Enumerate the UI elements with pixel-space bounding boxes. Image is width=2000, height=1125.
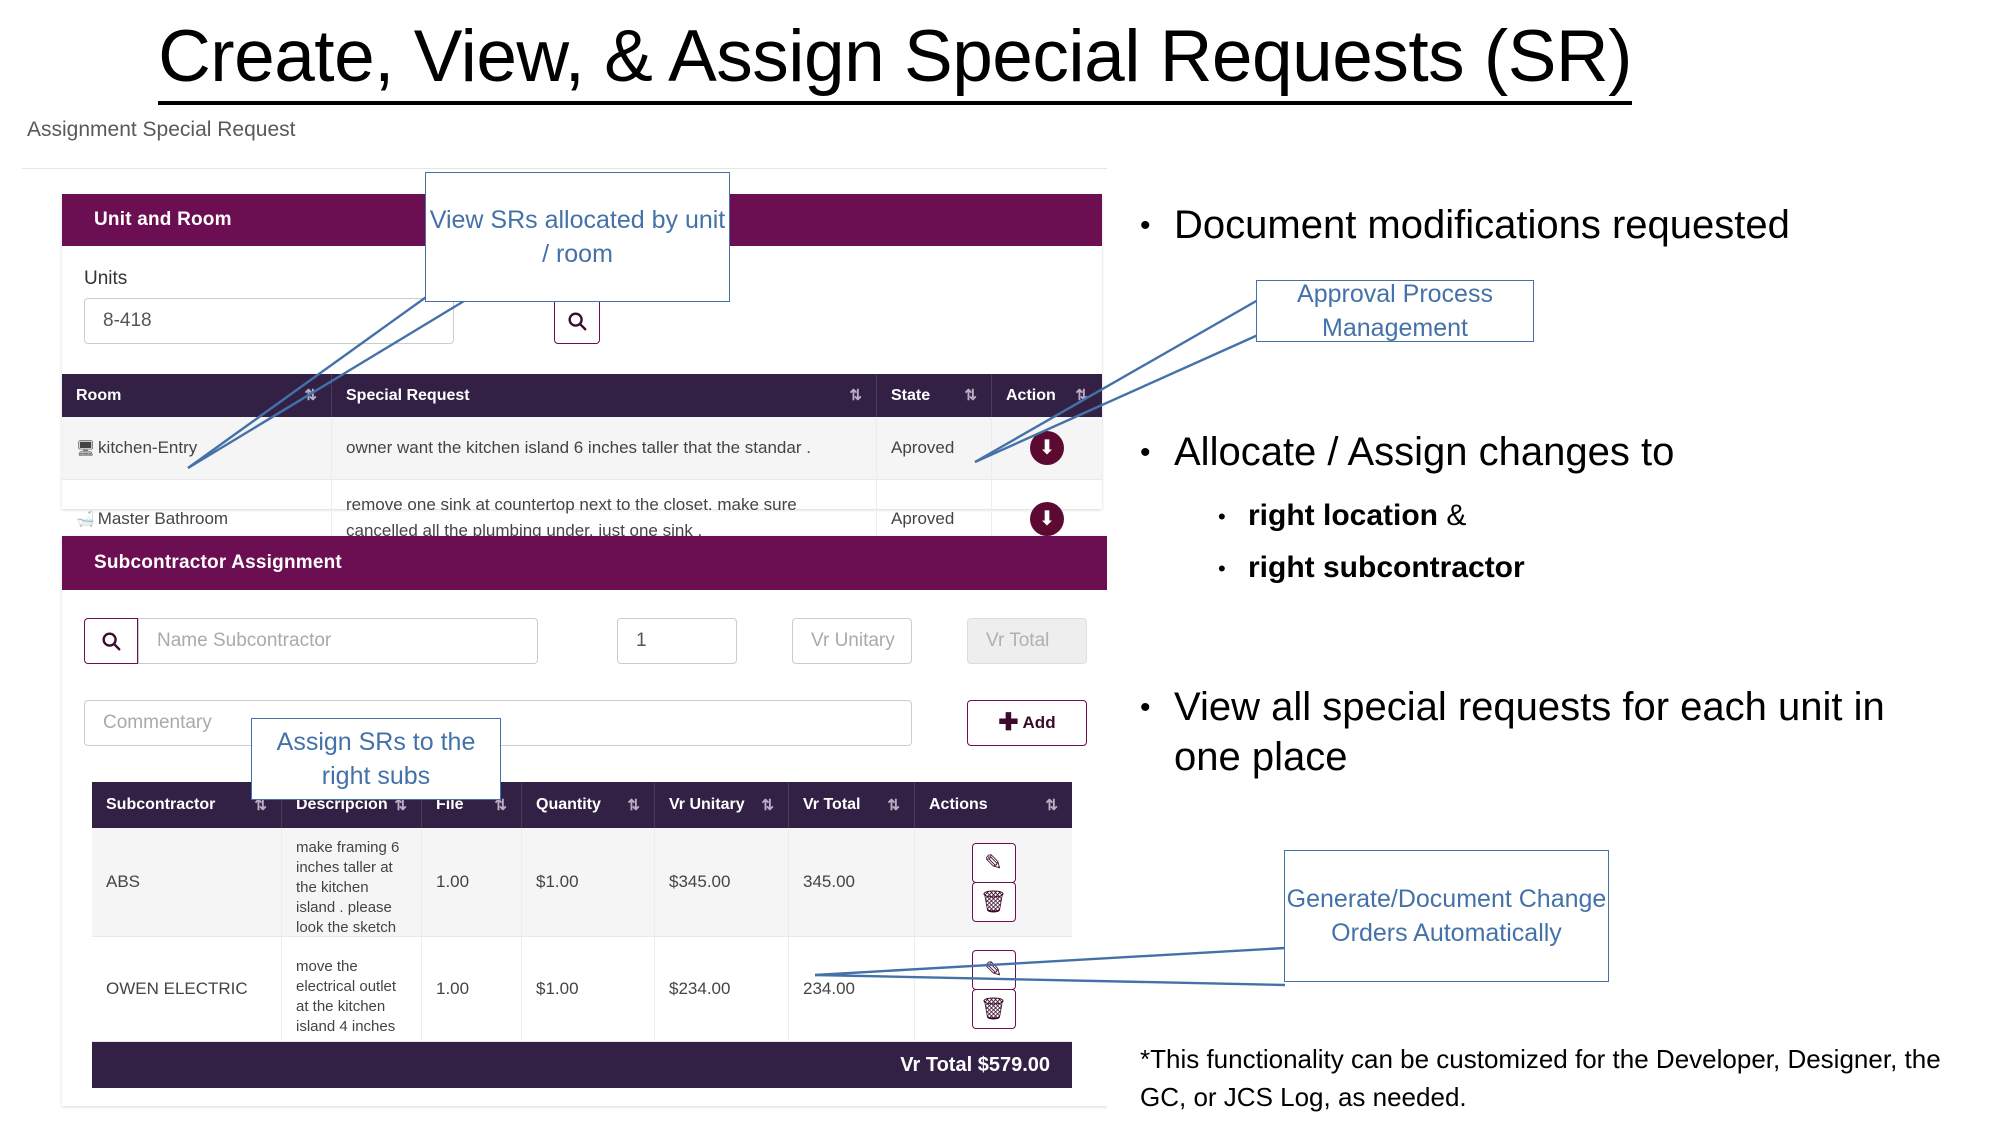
th-room[interactable]: Room ⇅: [62, 374, 332, 417]
edit-button[interactable]: ✎: [972, 950, 1016, 990]
subcontractor-assignment-card: Subcontractor Assignment Name Subcontrac…: [62, 536, 1107, 1106]
sort-updown-icon[interactable]: ⇅: [627, 798, 640, 813]
trash-icon: 🗑: [980, 889, 1008, 915]
subbullet-right-subcontractor: • right subcontractor: [1218, 547, 1978, 591]
cell-file: 1.00: [422, 828, 522, 936]
footnote: *This functionality can be customized fo…: [1140, 1040, 1985, 1116]
bullet-dot-icon: •: [1140, 200, 1174, 252]
cell-room-label: kitchen-Entry: [98, 438, 197, 458]
table-row[interactable]: 🖥 kitchen-Entry owner want the kitchen i…: [62, 417, 1102, 480]
callout-view-srs-text: View SRs allocated by unit / room: [426, 203, 729, 271]
rooms-table-header: Room ⇅ Special Request ⇅ State ⇅ Action …: [62, 374, 1102, 417]
sort-updown-icon[interactable]: ⇅: [849, 388, 862, 403]
cell-vr-unitary: $234.00: [655, 937, 789, 1041]
cell-subcontractor: ABS: [92, 828, 282, 936]
subcontractor-search-button[interactable]: [84, 618, 138, 664]
subcontractor-name-input[interactable]: Name Subcontractor: [138, 618, 538, 664]
download-circle-icon[interactable]: ⬇: [1030, 431, 1064, 465]
cell-quantity: $1.00: [522, 828, 655, 936]
th-special-request-label: Special Request: [346, 387, 470, 405]
delete-button[interactable]: 🗑: [972, 882, 1016, 922]
edit-pencil-icon: ✎: [984, 957, 1002, 983]
callout-change-orders-text: Generate/Document Change Orders Automati…: [1285, 882, 1608, 950]
sort-updown-icon[interactable]: ⇅: [964, 388, 977, 403]
th-room-label: Room: [76, 387, 121, 405]
cell-descripcion: move the electrical outlet at the kitche…: [282, 937, 422, 1041]
subcontractor-table-header: Subcontractor ⇅ Descripcion ⇅ File ⇅ Qua…: [92, 782, 1072, 828]
units-label: Units: [84, 268, 127, 290]
table-row[interactable]: OWEN ELECTRIC move the electrical outlet…: [92, 937, 1072, 1042]
sort-updown-icon[interactable]: ⇅: [1045, 798, 1058, 813]
plus-icon: ✚: [998, 711, 1018, 735]
cell-room: 🖥 kitchen-Entry: [62, 417, 332, 479]
callout-assign-subs: Assign SRs to the right subs: [251, 718, 501, 800]
units-input[interactable]: 8-418: [84, 298, 454, 344]
th-vr-unitary-label: Vr Unitary: [669, 796, 745, 814]
delete-button[interactable]: 🗑: [972, 989, 1016, 1029]
cell-room-label: Master Bathroom: [98, 509, 228, 529]
th-state-label: State: [891, 387, 930, 405]
callout-assign-subs-text: Assign SRs to the right subs: [252, 725, 500, 793]
subcontractor-assignment-header: Subcontractor Assignment: [62, 536, 1107, 590]
cell-descripcion: make framing 6 inches taller at the kitc…: [282, 828, 422, 936]
subbullet-right-location-text: right location: [1248, 499, 1438, 532]
th-special-request[interactable]: Special Request ⇅: [332, 374, 877, 417]
monitor-icon: 🖥: [76, 439, 95, 457]
cell-file: 1.00: [422, 937, 522, 1041]
edit-button[interactable]: ✎: [972, 843, 1016, 883]
header-divider: [22, 168, 1107, 169]
sort-updown-icon[interactable]: ⇅: [761, 798, 774, 813]
callout-change-orders: Generate/Document Change Orders Automati…: [1284, 850, 1609, 982]
subcontractor-table-footer: Vr Total $579.00: [92, 1042, 1072, 1088]
bullet-allocate-assign: • Allocate / Assign changes to: [1140, 427, 1970, 479]
cell-vr-unitary: $345.00: [655, 828, 789, 936]
cell-action: ⬇: [992, 417, 1102, 479]
table-row[interactable]: ABS make framing 6 inches taller at the …: [92, 828, 1072, 937]
cell-quantity: $1.00: [522, 937, 655, 1041]
subbullet-right-location: • right location &: [1218, 495, 1978, 539]
th-quantity[interactable]: Quantity ⇅: [522, 782, 655, 828]
sort-updown-icon[interactable]: ⇅: [304, 388, 317, 403]
th-subcontractor-label: Subcontractor: [106, 796, 215, 814]
bullet-document-modifications: • Document modifications requested: [1140, 200, 1970, 252]
subcontractor-search-group: Name Subcontractor: [84, 618, 538, 664]
bullet-document-modifications-text: Document modifications requested: [1174, 200, 1790, 252]
search-icon: [566, 310, 588, 332]
subbullet-right-subcontractor-text: right subcontractor: [1248, 547, 1525, 591]
th-action-label: Action: [1006, 387, 1056, 405]
bullet-view-all-requests: • View all special requests for each uni…: [1140, 682, 1900, 782]
edit-pencil-icon: ✎: [984, 850, 1002, 876]
vr-unitary-input[interactable]: Vr Unitary: [792, 618, 912, 664]
breadcrumb: Assignment Special Request: [27, 118, 295, 142]
callout-view-srs: View SRs allocated by unit / room: [425, 172, 730, 302]
bathtub-icon: 🛁: [76, 510, 95, 528]
search-icon: [100, 630, 122, 652]
th-vr-unitary[interactable]: Vr Unitary ⇅: [655, 782, 789, 828]
vr-total-input: Vr Total: [967, 618, 1087, 664]
th-state[interactable]: State ⇅: [877, 374, 992, 417]
cell-subcontractor: OWEN ELECTRIC: [92, 937, 282, 1041]
cell-special-request: owner want the kitchen island 6 inches t…: [332, 417, 877, 479]
sort-updown-icon[interactable]: ⇅: [1075, 388, 1088, 403]
th-quantity-label: Quantity: [536, 796, 601, 814]
cell-state: Aproved: [877, 417, 992, 479]
page-title: Create, View, & Assign Special Requests …: [0, 14, 1790, 100]
bullet-dot-icon: •: [1140, 682, 1174, 782]
download-circle-icon[interactable]: ⬇: [1030, 502, 1064, 536]
cell-actions: ✎ 🗑: [915, 937, 1072, 1041]
subcontractor-table: Subcontractor ⇅ Descripcion ⇅ File ⇅ Qua…: [92, 782, 1072, 1088]
bullet-dot-icon: •: [1140, 427, 1174, 479]
add-button-label: Add: [1023, 713, 1056, 733]
cell-vr-total: 234.00: [789, 937, 915, 1041]
cell-vr-total: 345.00: [789, 828, 915, 936]
bullet-dot-icon: •: [1218, 495, 1248, 539]
quantity-input[interactable]: 1: [617, 618, 737, 664]
callout-approval-process-text: Approval Process Management: [1257, 277, 1533, 345]
subbullet-right-location-tail: &: [1438, 499, 1466, 532]
th-actions-label: Actions: [929, 796, 988, 814]
trash-icon: 🗑: [980, 996, 1008, 1022]
bullet-allocate-assign-text: Allocate / Assign changes to: [1174, 427, 1674, 479]
bullet-view-all-requests-text: View all special requests for each unit …: [1174, 682, 1900, 782]
search-button[interactable]: [554, 298, 600, 344]
page-title-text: Create, View, & Assign Special Requests …: [158, 16, 1632, 105]
th-vr-total-label: Vr Total: [803, 796, 861, 814]
th-action[interactable]: Action ⇅: [992, 374, 1102, 417]
callout-approval-process: Approval Process Management: [1256, 280, 1534, 342]
rooms-table: Room ⇅ Special Request ⇅ State ⇅ Action …: [62, 374, 1102, 559]
cell-actions: ✎ 🗑: [915, 828, 1072, 936]
sort-updown-icon[interactable]: ⇅: [887, 798, 900, 813]
th-actions[interactable]: Actions ⇅: [915, 782, 1072, 828]
add-button[interactable]: ✚ Add: [967, 700, 1087, 746]
th-vr-total[interactable]: Vr Total ⇅: [789, 782, 915, 828]
bullet-dot-icon: •: [1218, 547, 1248, 591]
